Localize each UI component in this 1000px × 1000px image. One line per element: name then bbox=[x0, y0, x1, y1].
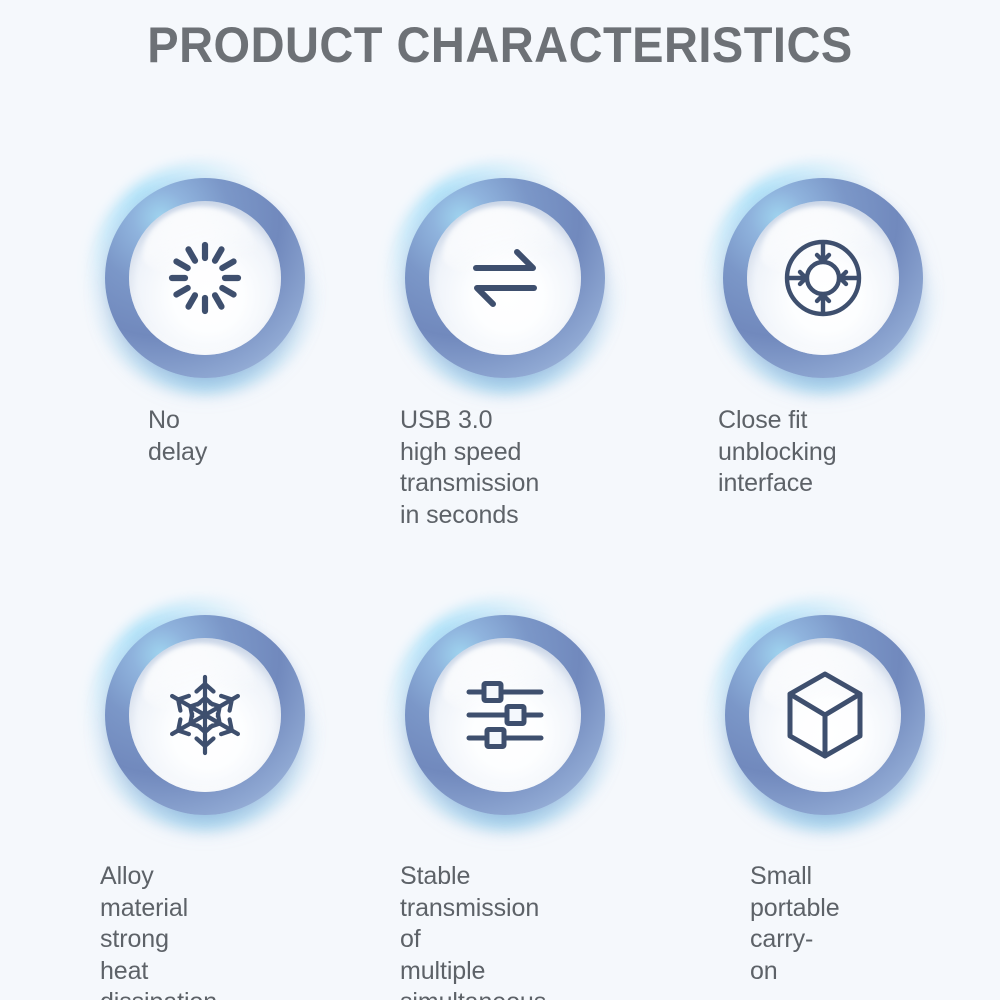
feature-icon-badge-small-portable[interactable] bbox=[725, 615, 925, 815]
feature-caption-no-delay: No delay bbox=[148, 405, 207, 468]
feature-caption-small-portable: Small portable carry-on bbox=[750, 861, 840, 987]
feature-caption-alloy-material: Alloy material strong heat dissipation bbox=[100, 861, 217, 1000]
feature-icon-badge-alloy-material[interactable] bbox=[105, 615, 305, 815]
feature-icon-badge-no-delay[interactable] bbox=[105, 178, 305, 378]
feature-icon-badge-usb-speed[interactable] bbox=[405, 178, 605, 378]
spinner-icon bbox=[105, 178, 305, 378]
feature-icon-badge-stable-transmission[interactable] bbox=[405, 615, 605, 815]
feature-caption-usb-speed: USB 3.0 high speed transmission in secon… bbox=[400, 405, 539, 531]
sliders-icon bbox=[405, 615, 605, 815]
feature-caption-close-fit: Close fit unblocking interface bbox=[718, 405, 837, 500]
feature-caption-stable-transmission: Stable transmission of multiple simultan… bbox=[400, 861, 546, 1000]
snowflake-icon bbox=[105, 615, 305, 815]
transfer-arrows-icon bbox=[405, 178, 605, 378]
page-title: PRODUCT CHARACTERISTICS bbox=[30, 16, 970, 74]
cube-icon bbox=[725, 615, 925, 815]
feature-icon-badge-close-fit[interactable] bbox=[723, 178, 923, 378]
fit-target-icon bbox=[723, 178, 923, 378]
